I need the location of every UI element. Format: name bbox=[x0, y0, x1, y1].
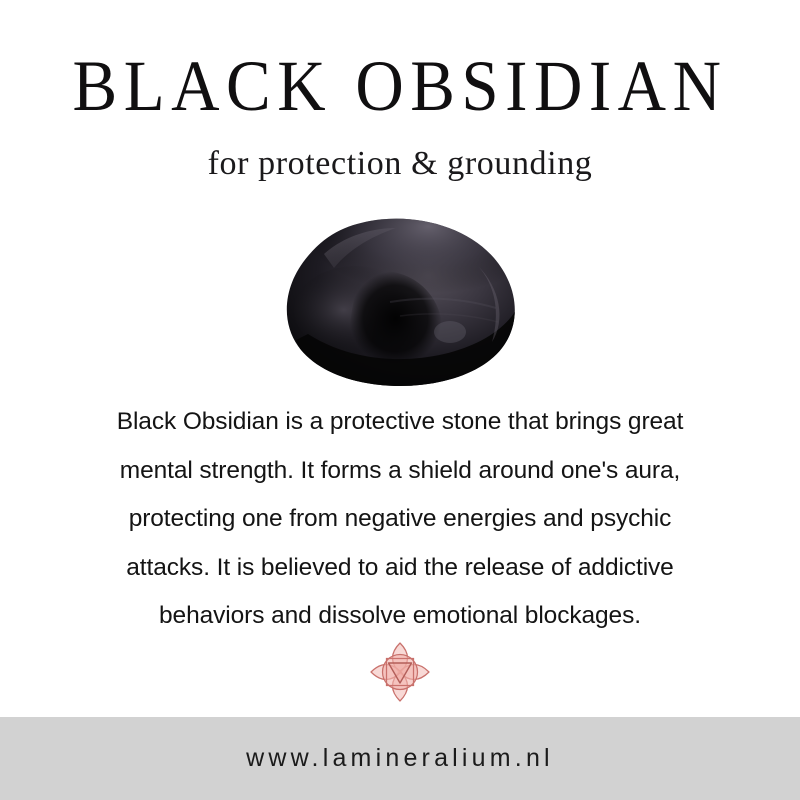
stone-image bbox=[272, 214, 528, 390]
product-info-card: BLACK OBSIDIAN for protection & groundin… bbox=[0, 0, 800, 800]
page-title: BLACK OBSIDIAN bbox=[0, 44, 800, 128]
description-line: behaviors and dissolve emotional blockag… bbox=[60, 592, 740, 641]
description-line: Black Obsidian is a protective stone tha… bbox=[60, 398, 740, 447]
description-line: attacks. It is believed to aid the relea… bbox=[60, 544, 740, 593]
root-chakra-symbol-glyph bbox=[366, 638, 434, 706]
black-obsidian-stone-icon bbox=[272, 214, 528, 390]
page-subtitle: for protection & grounding bbox=[0, 144, 800, 184]
website-url[interactable]: www.lamineralium.nl bbox=[246, 744, 554, 773]
header-block: BLACK OBSIDIAN for protection & groundin… bbox=[0, 44, 800, 184]
footer-bar: www.lamineralium.nl bbox=[0, 717, 800, 800]
root-chakra-icon bbox=[366, 638, 434, 706]
description-line: mental strength. It forms a shield aroun… bbox=[60, 447, 740, 496]
description-text: Black Obsidian is a protective stone tha… bbox=[60, 398, 740, 641]
description-line: protecting one from negative energies an… bbox=[60, 495, 740, 544]
